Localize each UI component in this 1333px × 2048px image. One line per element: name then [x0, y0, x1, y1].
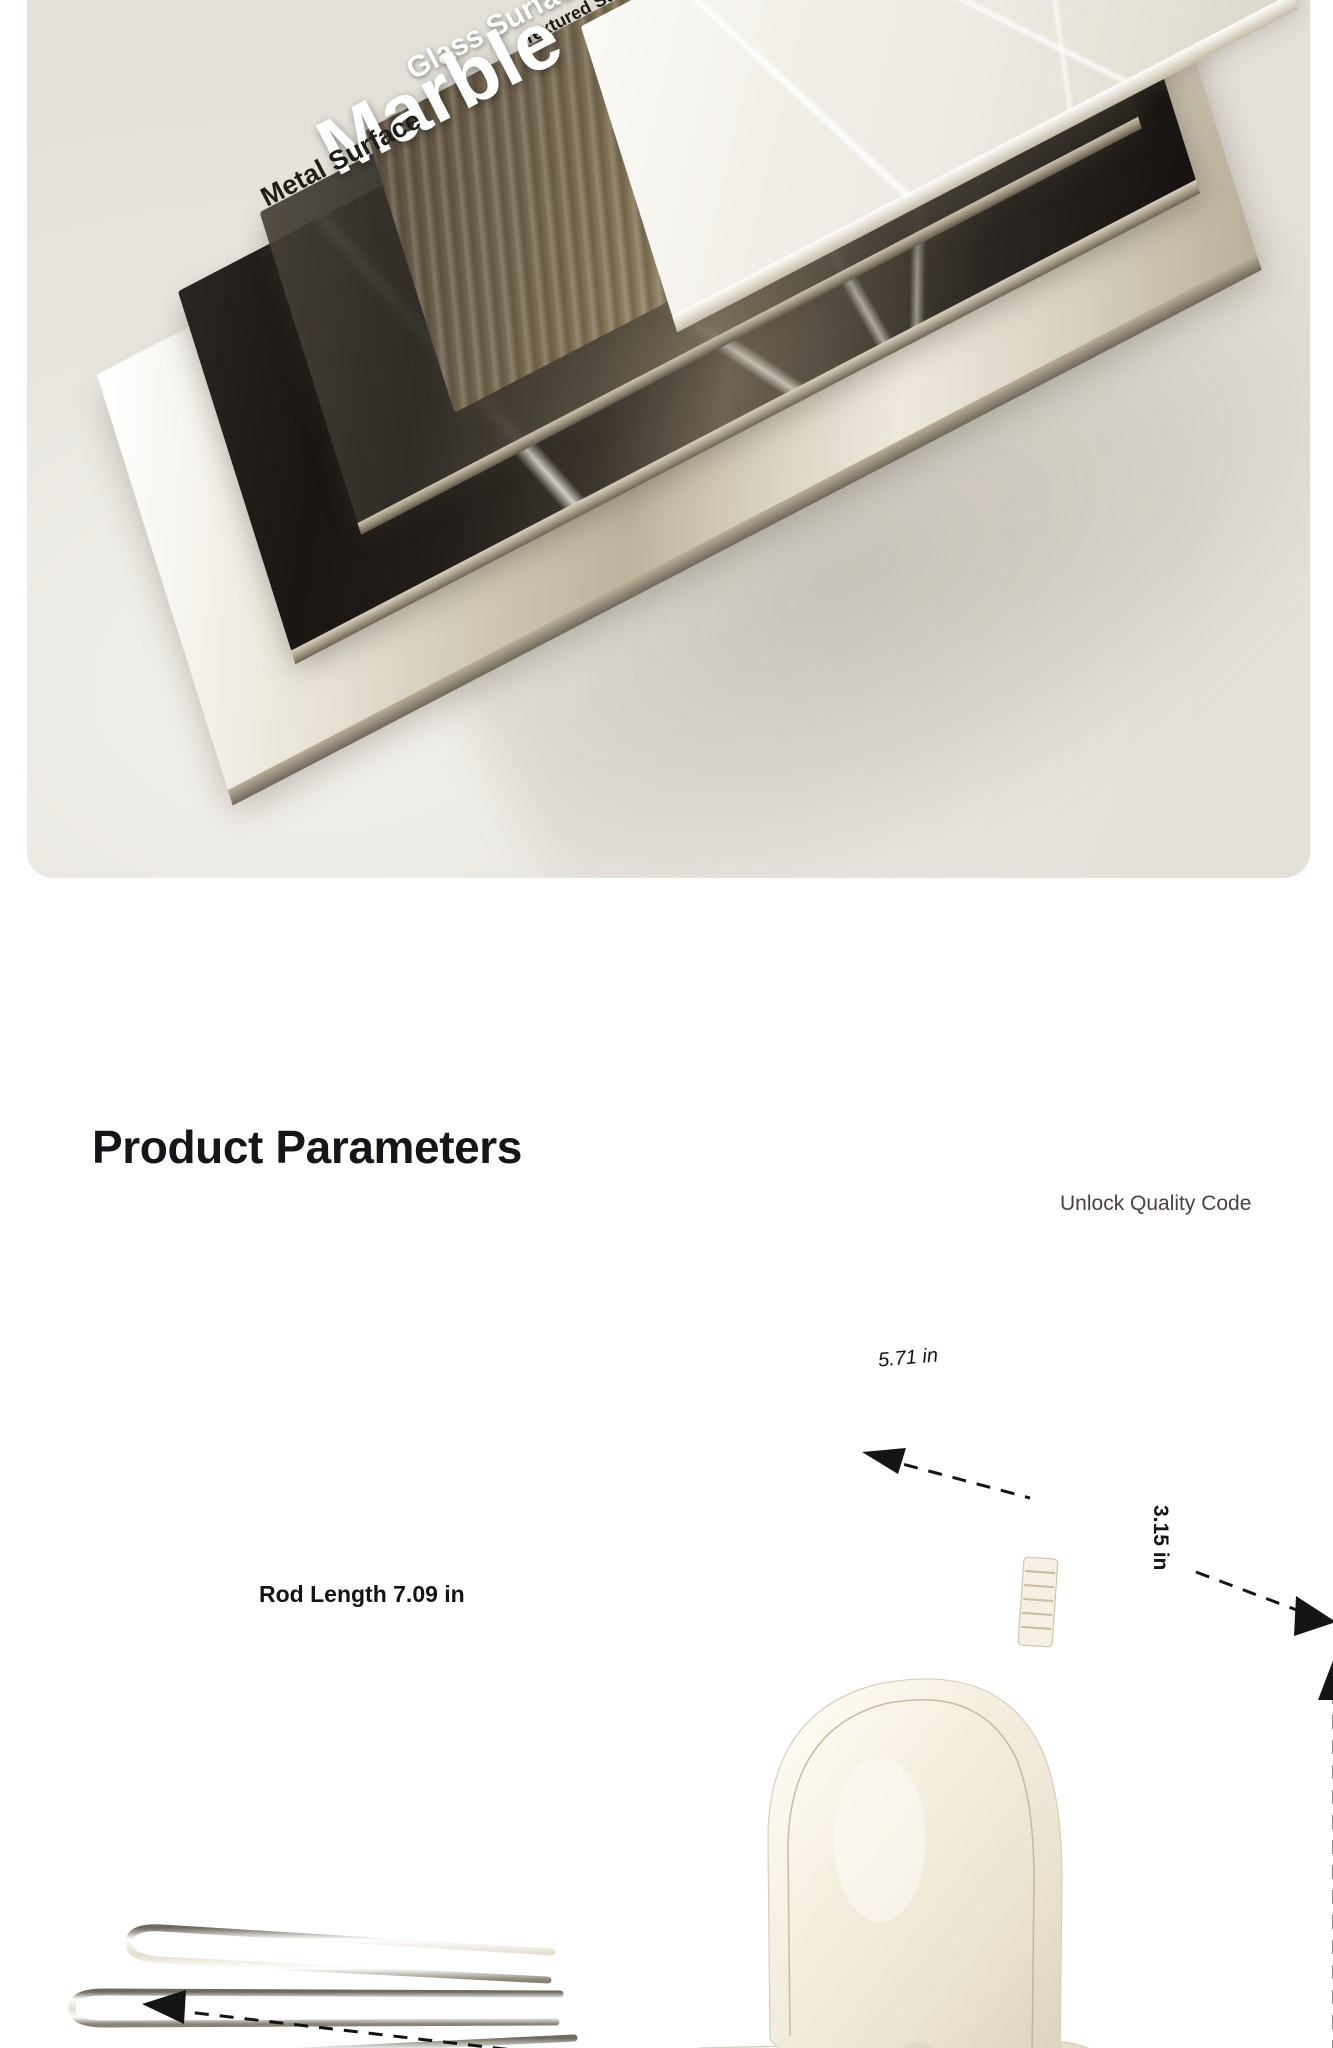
product-top-nub	[1018, 1557, 1058, 1647]
rod-group-rear	[72, 1928, 640, 2048]
dimension-label-height: 3.15 in	[1148, 1505, 1172, 1570]
product-illustration	[0, 1280, 1333, 2048]
dimension-arrowhead-right	[1294, 1596, 1333, 1636]
dimension-label-rod-length: Rod Length 7.09 in	[259, 1581, 465, 1608]
product-dimension-diagram	[0, 1280, 1333, 2048]
product-detail-page: Textured Surface Glass Surface Marble Me…	[0, 0, 1333, 2048]
material-slab-stack	[27, 0, 1310, 878]
dimension-arrowhead-up	[1318, 1658, 1333, 1700]
dimension-arrowhead-left	[862, 1448, 906, 1474]
dimension-arrow-depth	[1196, 1572, 1302, 1612]
hero-surface-showcase-image: Textured Surface Glass Surface Marble Me…	[27, 0, 1310, 878]
dimension-arrow-width	[880, 1458, 1030, 1498]
subcaption-unlock-quality-code: Unlock Quality Code	[1060, 1192, 1251, 1216]
product-handle-dome	[768, 1679, 1062, 2048]
page-title-product-parameters: Product Parameters	[92, 1122, 522, 1174]
